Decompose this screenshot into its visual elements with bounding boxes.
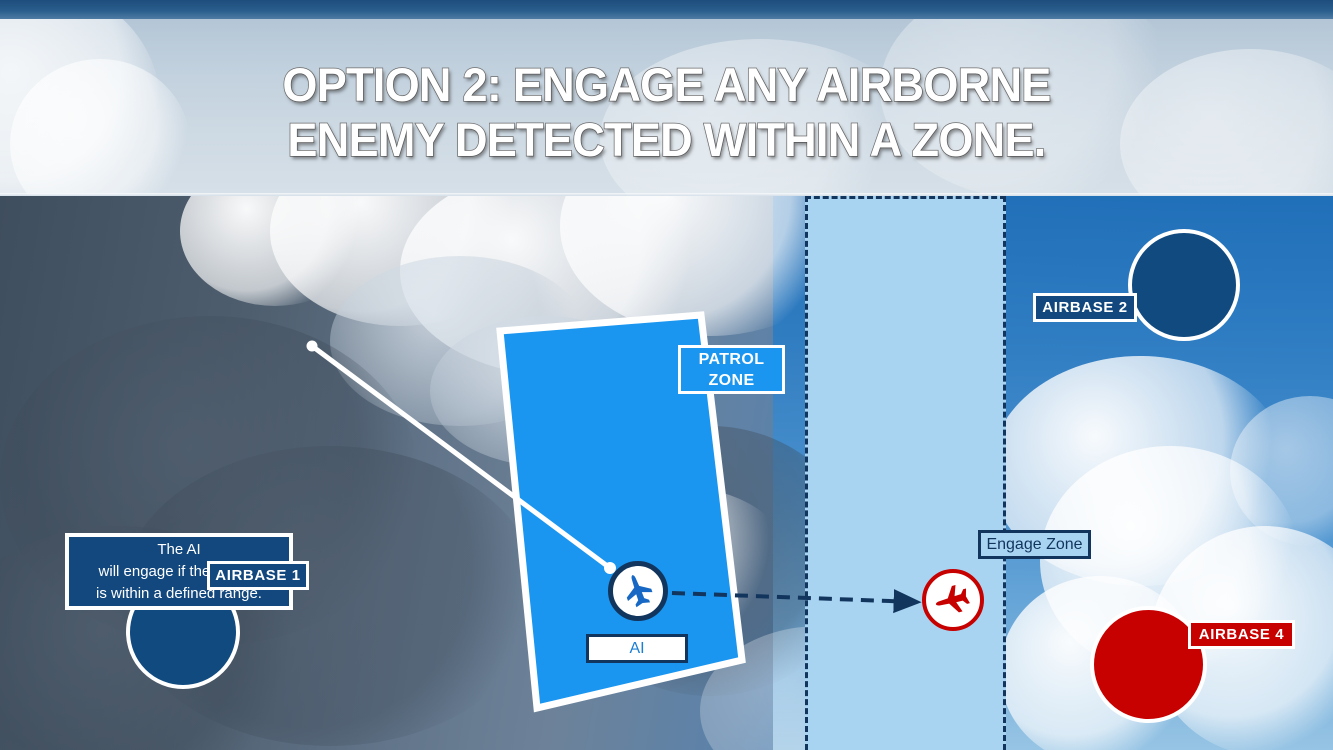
airbase-2-label[interactable]: AIRBASE 2	[1033, 293, 1137, 322]
engage-zone-band[interactable]	[805, 196, 1006, 750]
top-accent-bar	[0, 0, 1333, 19]
patrol-zone-label-text: PATROL ZONE	[699, 349, 765, 391]
slide-body: The AI will engage if the enemy is withi…	[0, 196, 1333, 750]
airbase-2-label-text: AIRBASE 2	[1042, 299, 1127, 316]
engage-zone-label-text: Engage Zone	[986, 536, 1082, 554]
slide-title: OPTION 2: ENGAGE ANY AIRBORNE ENEMY DETE…	[27, 57, 1307, 167]
airbase-2-circle[interactable]	[1128, 229, 1240, 341]
header-divider	[0, 193, 1333, 196]
slide-header: OPTION 2: ENGAGE ANY AIRBORNE ENEMY DETE…	[0, 19, 1333, 196]
ai-aircraft-label-text: AI	[629, 640, 644, 658]
ai-aircraft-label[interactable]: AI	[586, 634, 688, 663]
airbase-1-label-text: AIRBASE 1	[215, 567, 300, 584]
enemy-aircraft-marker[interactable]	[922, 569, 984, 631]
slide-canvas: The AI will engage if the enemy is withi…	[0, 0, 1333, 750]
fighter-jet-icon	[932, 579, 974, 621]
airbase-4-label-text: AIRBASE 4	[1199, 626, 1284, 643]
fighter-jet-icon	[618, 571, 658, 611]
patrol-zone-label[interactable]: PATROL ZONE	[678, 345, 785, 394]
engage-zone-label[interactable]: Engage Zone	[978, 530, 1091, 559]
airbase-4-label[interactable]: AIRBASE 4	[1188, 620, 1295, 649]
airbase-1-label[interactable]: AIRBASE 1	[207, 561, 309, 590]
ai-aircraft-marker[interactable]	[608, 561, 668, 621]
